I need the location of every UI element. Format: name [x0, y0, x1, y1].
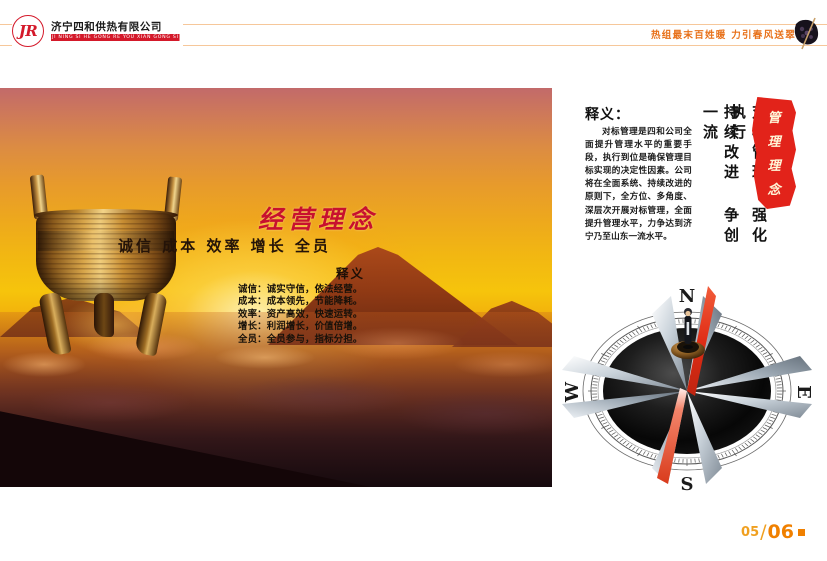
ding-body — [36, 213, 176, 301]
bronze-ding-sunset-photo: 经营理念 诚信 成本 效率 增长 全员 释义 诚信：诚实守信，依法经营。 成本：… — [0, 88, 552, 487]
definition-item: 成本：成本领先，节能降耗。 — [238, 296, 362, 308]
bronze-ding-icon — [20, 175, 192, 355]
logo-monogram-icon: JR — [12, 15, 44, 47]
compass-rose-icon: N S W E — [556, 278, 818, 500]
vertical-slogan-left: 持续改进 争创一流 — [700, 104, 742, 254]
compass-west-label: W — [562, 381, 583, 403]
management-philosophy-banner: 管 理 理 念 — [752, 97, 796, 209]
jieyi-heading: 释义： — [585, 104, 630, 124]
page-marker-square — [798, 529, 805, 536]
philosophy-definition-list: 诚信：诚实守信，依法经营。 成本：成本领先，节能降耗。 效率：资产高效，快速运转… — [238, 284, 362, 346]
page-header: JR 济宁四和供热有限公司 JI NING SI HE GONG RE YOU … — [0, 0, 827, 62]
banner-char: 管 — [767, 107, 780, 131]
definition-item: 效率：资产高效，快速运转。 — [238, 309, 362, 321]
definition-item: 增长：利润增长，价值倍增。 — [238, 321, 362, 333]
ink-blot-brush-ornament-icon — [790, 16, 824, 50]
photo-jieyi-label: 释义 — [336, 263, 365, 282]
page-current: 05 — [741, 525, 759, 540]
banner-char: 理 — [767, 131, 780, 155]
company-logo: JR 济宁四和供热有限公司 JI NING SI HE GONG RE YOU … — [12, 16, 183, 46]
page-number: 05 / 06 — [741, 521, 805, 543]
philosophy-keywords: 诚信 成本 效率 增长 全员 — [118, 235, 331, 256]
definition-item: 全员：全员参与，指标分担。 — [238, 334, 362, 346]
page-total: 06 — [768, 521, 794, 543]
jieyi-paragraph: 对标管理是四和公司全面提升管理水平的重要手段，执行到位是确保管理目标实现的决定性… — [585, 126, 692, 244]
page-separator: / — [760, 521, 766, 543]
compass-south-label: S — [681, 474, 694, 495]
logo-text-group: 济宁四和供热有限公司 JI NING SI HE GONG RE YOU XIA… — [51, 21, 177, 41]
header-slogan: 热组最末百姓暖 力引春风送翠城 — [648, 26, 810, 42]
banner-char: 理 — [767, 155, 780, 179]
page-title: 经营理念 — [258, 200, 378, 236]
compass-north-label: N — [679, 286, 695, 307]
definition-item: 诚信：诚实守信，依法经营。 — [238, 284, 362, 296]
ding-leg-middle — [94, 293, 114, 337]
company-name-cn: 济宁四和供热有限公司 — [51, 21, 177, 33]
compass-east-label: E — [793, 385, 814, 399]
banner-char: 念 — [767, 179, 780, 203]
company-name-en: JI NING SI HE GONG RE YOU XIAN GONG SI — [51, 34, 180, 41]
